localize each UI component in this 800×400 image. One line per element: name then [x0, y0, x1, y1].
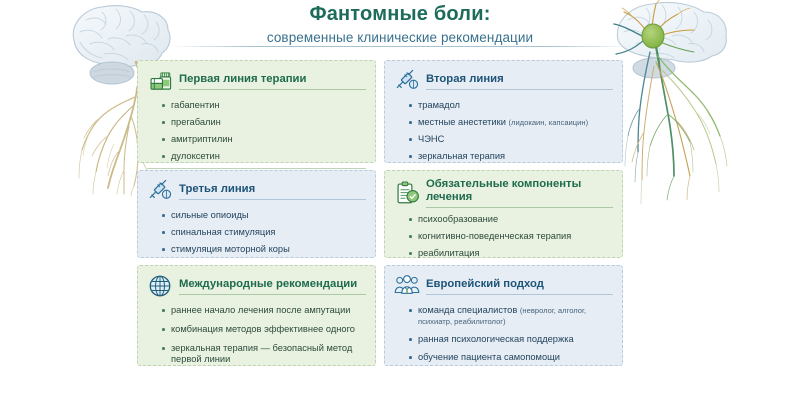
card-third-line[interactable]: Третья линия сильные опиоиды спинальная …	[137, 170, 376, 258]
card-international-recommendations[interactable]: Международные рекомендации раннее начало…	[137, 265, 376, 366]
header-divider	[170, 46, 630, 47]
page-subtitle: современные клинические рекомендации	[0, 28, 800, 48]
list-item: раннее начало лечения после ампутации	[171, 305, 366, 316]
medicine-bottles-icon	[147, 68, 173, 94]
list-item: амитриптилин	[171, 134, 366, 145]
card-second-line[interactable]: Вторая линия трамадол местные анестетики…	[384, 60, 623, 163]
list-item: команда специалистов (невролог, алголог,…	[418, 305, 613, 327]
card-title: Третья линия	[179, 183, 366, 200]
card-title: Обязательные компоненты лечения	[426, 178, 613, 208]
card-title: Международные рекомендации	[179, 278, 366, 295]
list-item: психообразование	[418, 214, 613, 225]
syringe-icon	[147, 178, 173, 204]
card-item-list: сильные опиоиды спинальная стимуляция ст…	[147, 210, 366, 255]
list-item: ЧЭНС	[418, 134, 613, 145]
card-header: Первая линия терапии	[147, 68, 366, 94]
card-european-approach[interactable]: Европейский подход команда специалистов …	[384, 265, 623, 366]
card-title: Первая линия терапии	[179, 73, 366, 90]
list-item: ранная психологическая поддержка	[418, 334, 613, 345]
list-item: дулоксетин	[171, 151, 366, 162]
list-item: стимуляция моторной коры	[171, 244, 366, 255]
header: Фантомные боли: современные клинические …	[0, 2, 800, 48]
list-item: зеркальная терапия — безопасный метод пе…	[171, 343, 366, 365]
syringe-icon	[394, 68, 420, 94]
list-item: прегабалин	[171, 117, 366, 128]
card-item-list: габапентин прегабалин амитриптилин дулок…	[147, 100, 366, 162]
list-item: зеркальная терапия	[418, 151, 613, 162]
list-item: местные анестетики (лидокаин, капсаицин)	[418, 117, 613, 128]
card-header: Международные рекомендации	[147, 273, 366, 299]
list-item: габапентин	[171, 100, 366, 111]
list-item: реабилитация	[418, 248, 613, 259]
card-mandatory-components[interactable]: Обязательные компоненты лечения психообр…	[384, 170, 623, 258]
card-header: Вторая линия	[394, 68, 613, 94]
list-item: обучение пациента самопомощи	[418, 352, 613, 363]
infographic-canvas: Фантомные боли: современные клинические …	[0, 0, 800, 400]
clipboard-checklist-icon	[394, 180, 420, 206]
list-item: спинальная стимуляция	[171, 227, 366, 238]
card-header: Европейский подход	[394, 273, 613, 299]
team-of-specialists-icon	[394, 273, 420, 299]
card-header: Обязательные компоненты лечения	[394, 178, 613, 208]
card-title: Европейский подход	[426, 278, 613, 295]
card-title: Вторая линия	[426, 73, 613, 90]
card-first-line[interactable]: Первая линия терапии габапентин прегабал…	[137, 60, 376, 163]
card-item-list: трамадол местные анестетики (лидокаин, к…	[394, 100, 613, 162]
card-item-list: раннее начало лечения после ампутации ко…	[147, 305, 366, 365]
list-item: трамадол	[418, 100, 613, 111]
globe-icon	[147, 273, 173, 299]
page-title: Фантомные боли:	[0, 2, 800, 26]
card-header: Третья линия	[147, 178, 366, 204]
card-item-list: команда специалистов (невролог, алголог,…	[394, 305, 613, 363]
list-item: комбинация методов эффективнее одного	[171, 324, 366, 335]
list-item: когнитивно-поведенческая терапия	[418, 231, 613, 242]
list-item: сильные опиоиды	[171, 210, 366, 221]
cards-grid: Первая линия терапии габапентин прегабал…	[137, 60, 623, 366]
